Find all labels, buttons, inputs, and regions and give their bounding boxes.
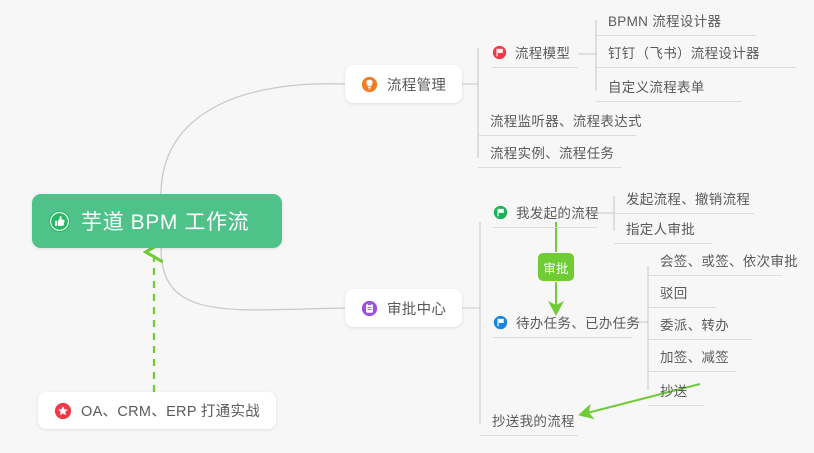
leaf-label: 会签、或签、依次审批 [660, 254, 798, 269]
leaf-cc-my-process[interactable]: 抄送我的流程 [480, 410, 578, 436]
branch-label: 流程管理 [387, 74, 446, 95]
lightbulb-icon [361, 76, 378, 93]
leaf-label: 钉钉（飞书）流程设计器 [608, 46, 760, 61]
leaf-label: BPMN 流程设计器 [608, 14, 721, 29]
leaf-reject[interactable]: 驳回 [648, 282, 716, 308]
mindmap-canvas: 芋道 BPM 工作流 流程管理 流程模型 BPMN 流程设计器 钉钉（飞书 [0, 0, 814, 453]
leaf-label: 发起流程、撤销流程 [626, 192, 750, 207]
leaf-label: 流程模型 [515, 42, 570, 62]
leaf-delegate-transfer[interactable]: 委派、转办 [648, 314, 752, 340]
flag-icon [493, 315, 508, 330]
branch-approval-center[interactable]: 审批中心 [345, 289, 462, 327]
bottom-note[interactable]: OA、CRM、ERP 打通实战 [38, 392, 276, 429]
leaf-custom-process-form[interactable]: 自定义流程表单 [596, 76, 742, 102]
leaf-label: 流程监听器、流程表达式 [490, 114, 642, 129]
approval-tag: 审批 [538, 253, 574, 281]
leaf-countersign[interactable]: 会签、或签、依次审批 [648, 250, 782, 276]
leaf-label: 抄送我的流程 [492, 414, 575, 429]
leaf-dingtalk-feishu-designer[interactable]: 钉钉（飞书）流程设计器 [596, 42, 796, 68]
leaf-assignee-approval[interactable]: 指定人审批 [614, 218, 712, 244]
approval-tag-label: 审批 [543, 258, 569, 277]
leaf-my-started-process[interactable]: 我发起的流程 [493, 202, 597, 228]
leaf-label: 流程实例、流程任务 [490, 146, 614, 161]
flag-icon [492, 45, 507, 60]
leaf-label: 抄送 [660, 384, 688, 399]
leaf-label: 加签、减签 [660, 350, 729, 365]
leaf-todo-done-tasks[interactable]: 待办任务、已办任务 [493, 312, 632, 338]
branch-label: 审批中心 [387, 298, 446, 319]
branch-process-management[interactable]: 流程管理 [345, 65, 462, 103]
flag-icon [493, 205, 508, 220]
leaf-start-cancel-process[interactable]: 发起流程、撤销流程 [614, 188, 754, 214]
leaf-label: 委派、转办 [660, 318, 729, 333]
leaf-label: 待办任务、已办任务 [516, 312, 640, 332]
root-node[interactable]: 芋道 BPM 工作流 [32, 194, 282, 248]
leaf-label: 我发起的流程 [516, 202, 599, 222]
thumbs-up-icon [48, 210, 71, 233]
leaf-label: 驳回 [660, 286, 688, 301]
leaf-add-remove-sign[interactable]: 加签、减签 [648, 346, 736, 372]
leaf-process-listener-expression[interactable]: 流程监听器、流程表达式 [478, 110, 636, 136]
leaf-cc[interactable]: 抄送 [648, 380, 704, 406]
clipboard-icon [361, 300, 378, 317]
leaf-label: 指定人审批 [626, 222, 695, 237]
connector-root-to-approval-center [161, 248, 345, 310]
leaf-label: 自定义流程表单 [608, 80, 705, 95]
leaf-bpmn-designer[interactable]: BPMN 流程设计器 [596, 10, 756, 36]
leaf-process-model[interactable]: 流程模型 [492, 42, 578, 68]
bottom-note-label: OA、CRM、ERP 打通实战 [81, 400, 260, 421]
root-label: 芋道 BPM 工作流 [81, 206, 249, 236]
connector-root-to-process-management [161, 84, 345, 194]
star-icon [54, 402, 72, 420]
leaf-process-instance-task[interactable]: 流程实例、流程任务 [478, 142, 622, 168]
